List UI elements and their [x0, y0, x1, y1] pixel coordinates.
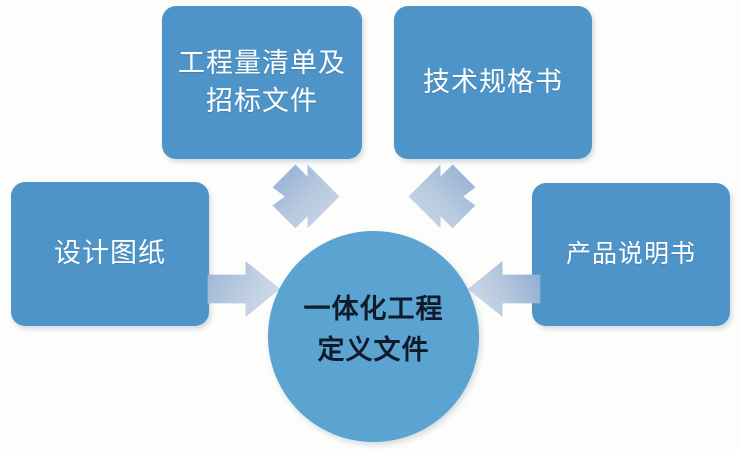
center-node-label: 一体化工程 定义文件 — [304, 289, 444, 370]
process-diagram: 工程量清单及 招标文件 技术规格书 设计图纸 产品说明书 一体化工程 定义文件 — [0, 0, 740, 449]
source-box-spec[interactable]: 技术规格书 — [394, 6, 592, 159]
source-box-boq[interactable]: 工程量清单及 招标文件 — [162, 6, 362, 159]
arrow-manual-to-center-icon — [466, 258, 542, 320]
source-box-drawing-label: 设计图纸 — [54, 235, 166, 272]
arrow-boq-to-center-icon — [268, 163, 344, 239]
source-box-drawing[interactable]: 设计图纸 — [11, 182, 209, 326]
source-box-boq-label: 工程量清单及 招标文件 — [178, 45, 346, 120]
source-box-manual-label: 产品说明书 — [566, 237, 696, 272]
source-box-spec-label: 技术规格书 — [423, 64, 563, 101]
source-box-manual[interactable]: 产品说明书 — [532, 183, 730, 326]
center-node-circle[interactable]: 一体化工程 定义文件 — [268, 231, 479, 442]
arrow-spec-to-center-icon — [404, 163, 480, 239]
